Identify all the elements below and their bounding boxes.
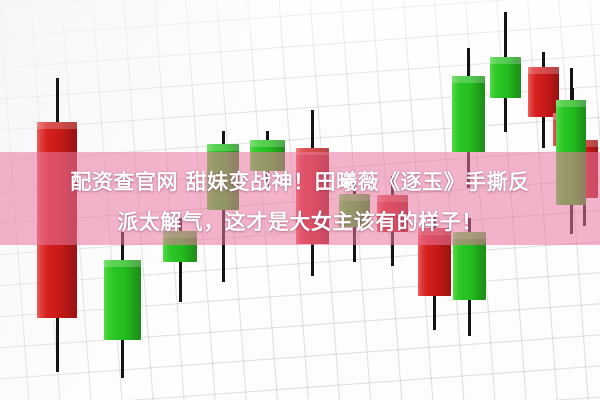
headline-line-1: 配资查官网 甜妹变战神！田曦薇《逐玉》手撕反 [0, 162, 600, 202]
candle-body-up [490, 57, 521, 98]
headline-line-2: 派太解气，这才是大女主该有的样子！ [0, 202, 600, 242]
candlestick-banner: 配资查官网 甜妹变战神！田曦薇《逐玉》手撕反派太解气，这才是大女主该有的样子！ [0, 0, 600, 400]
headline-text: 配资查官网 甜妹变战神！田曦薇《逐玉》手撕反派太解气，这才是大女主该有的样子！ [0, 162, 600, 242]
candle-body-up [104, 260, 141, 340]
candle-body-up [452, 76, 485, 152]
